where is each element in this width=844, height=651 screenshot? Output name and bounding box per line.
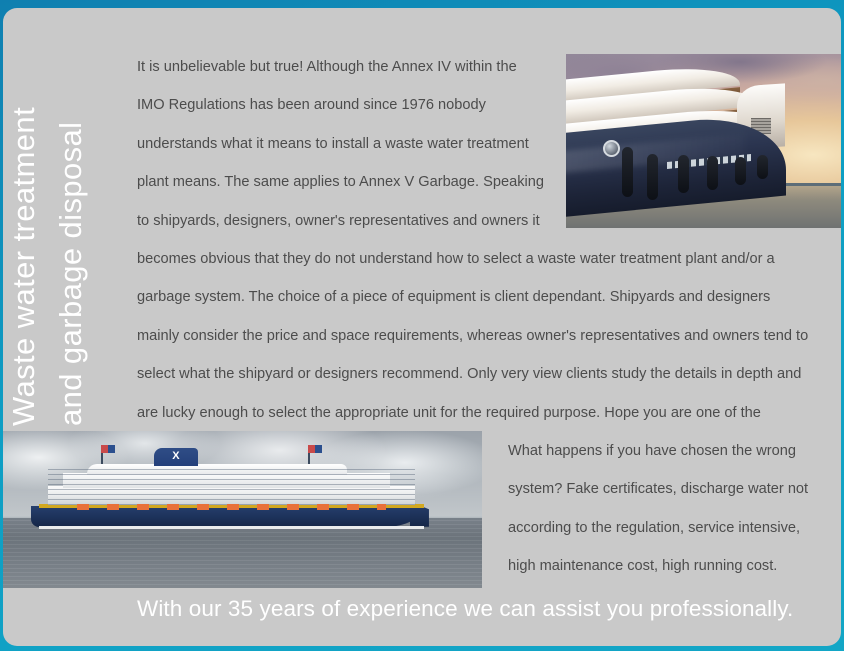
yacht-fender [707,156,718,190]
yacht-fender [757,155,768,179]
cruise-ship-photo: X [3,431,482,588]
vertical-section-heading: Waste water treatment and garbage dispos… [3,36,123,426]
yacht-fender [622,147,633,197]
yacht-fender [647,154,658,200]
yacht-porthole [603,140,620,157]
ship-lifeboats [77,504,385,510]
ship-aft-flag [308,445,322,453]
ship-funnel-logo: X [164,450,188,463]
vertical-heading-line-1: Waste water treatment [8,107,39,426]
yacht-photo [566,54,841,228]
ship-deck-lines [48,469,414,505]
article-body: It is unbelievable but true! Although th… [137,48,809,470]
vertical-heading-line-2: and garbage disposal [55,122,86,426]
yacht-fender [735,157,746,185]
article-paragraph-2: What happens if you have chosen the wron… [508,432,813,586]
yacht-fender [678,155,689,193]
content-card: Waste water treatment and garbage dispos… [3,8,841,646]
closing-headline: With our 35 years of experience we can a… [137,595,793,622]
ship-waterline-stripe [39,526,425,529]
ship-forward-flag [101,445,115,453]
